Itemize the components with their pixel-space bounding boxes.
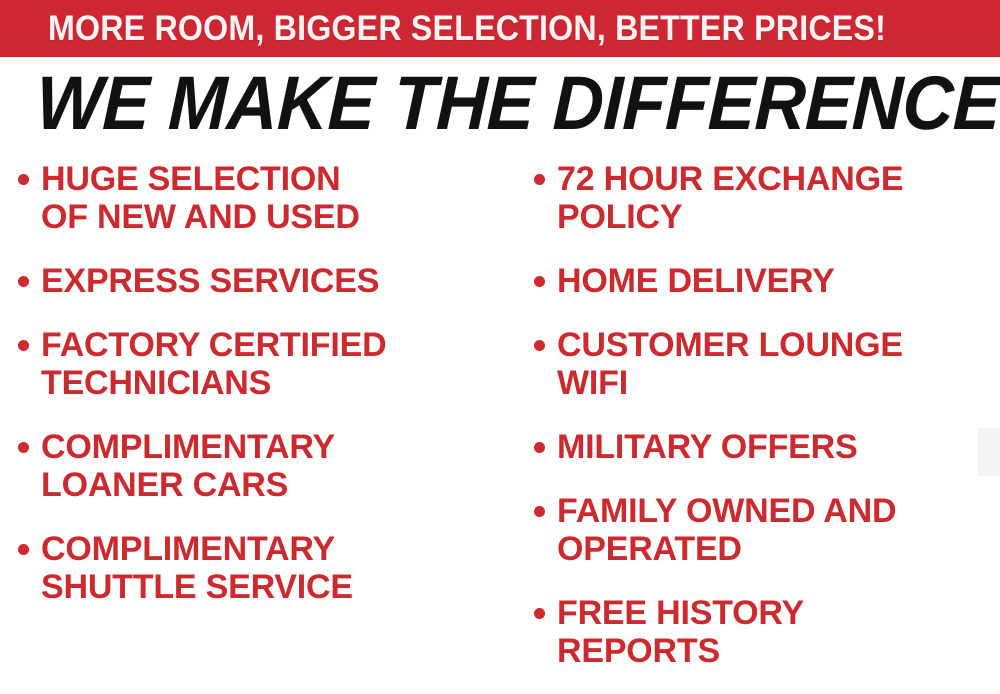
- list-item: FREE HISTORY REPORTS: [534, 594, 1000, 670]
- list-item-label: 72 HOUR EXCHANGE POLICY: [557, 160, 903, 236]
- list-item: 72 HOUR EXCHANGE POLICY: [534, 160, 1000, 236]
- list-item-label: MILITARY OFFERS: [557, 428, 857, 466]
- bullet-dot-icon: [18, 544, 29, 555]
- promo-banner-page: MORE ROOM, BIGGER SELECTION, BETTER PRIC…: [0, 0, 1000, 694]
- bullet-dot-icon: [18, 442, 29, 453]
- benefits-column-left: HUGE SELECTION OF NEW AND USED EXPRESS S…: [0, 160, 510, 632]
- bullet-dot-icon: [534, 174, 545, 185]
- benefits-column-right: 72 HOUR EXCHANGE POLICY HOME DELIVERY CU…: [510, 160, 1000, 694]
- main-headline: WE MAKE THE DIFFERENCE: [0, 66, 1000, 142]
- bullet-dot-icon: [534, 340, 545, 351]
- list-item-label: EXPRESS SERVICES: [41, 262, 379, 300]
- list-item: FACTORY CERTIFIED TECHNICIANS: [18, 326, 510, 402]
- main-headline-text: WE MAKE THE DIFFERENCE: [35, 66, 1000, 142]
- list-item-label: FREE HISTORY REPORTS: [557, 594, 804, 670]
- list-item-label: HUGE SELECTION OF NEW AND USED: [41, 160, 360, 236]
- bullet-dot-icon: [534, 608, 545, 619]
- list-item: FAMILY OWNED AND OPERATED: [534, 492, 1000, 568]
- bullet-dot-icon: [18, 276, 29, 287]
- bullet-dot-icon: [534, 276, 545, 287]
- benefits-columns: HUGE SELECTION OF NEW AND USED EXPRESS S…: [0, 160, 1000, 690]
- top-banner: MORE ROOM, BIGGER SELECTION, BETTER PRIC…: [0, 0, 1000, 57]
- bullet-dot-icon: [534, 442, 545, 453]
- list-item: COMPLIMENTARY SHUTTLE SERVICE: [18, 530, 510, 606]
- list-item: MILITARY OFFERS: [534, 428, 1000, 466]
- scan-edge-artifact: [978, 428, 1000, 476]
- list-item-label: FACTORY CERTIFIED TECHNICIANS: [41, 326, 386, 402]
- list-item-label: COMPLIMENTARY LOANER CARS: [41, 428, 335, 504]
- list-item-label: COMPLIMENTARY SHUTTLE SERVICE: [41, 530, 353, 606]
- bullet-dot-icon: [534, 506, 545, 517]
- list-item-label: HOME DELIVERY: [557, 262, 835, 300]
- bullet-dot-icon: [18, 174, 29, 185]
- bullet-dot-icon: [18, 340, 29, 351]
- list-item: EXPRESS SERVICES: [18, 262, 510, 300]
- list-item: HUGE SELECTION OF NEW AND USED: [18, 160, 510, 236]
- list-item: COMPLIMENTARY LOANER CARS: [18, 428, 510, 504]
- list-item-label: CUSTOMER LOUNGE WIFI: [557, 326, 903, 402]
- list-item: CUSTOMER LOUNGE WIFI: [534, 326, 1000, 402]
- list-item-label: FAMILY OWNED AND OPERATED: [557, 492, 896, 568]
- top-banner-headline: MORE ROOM, BIGGER SELECTION, BETTER PRIC…: [48, 11, 886, 46]
- list-item: HOME DELIVERY: [534, 262, 1000, 300]
